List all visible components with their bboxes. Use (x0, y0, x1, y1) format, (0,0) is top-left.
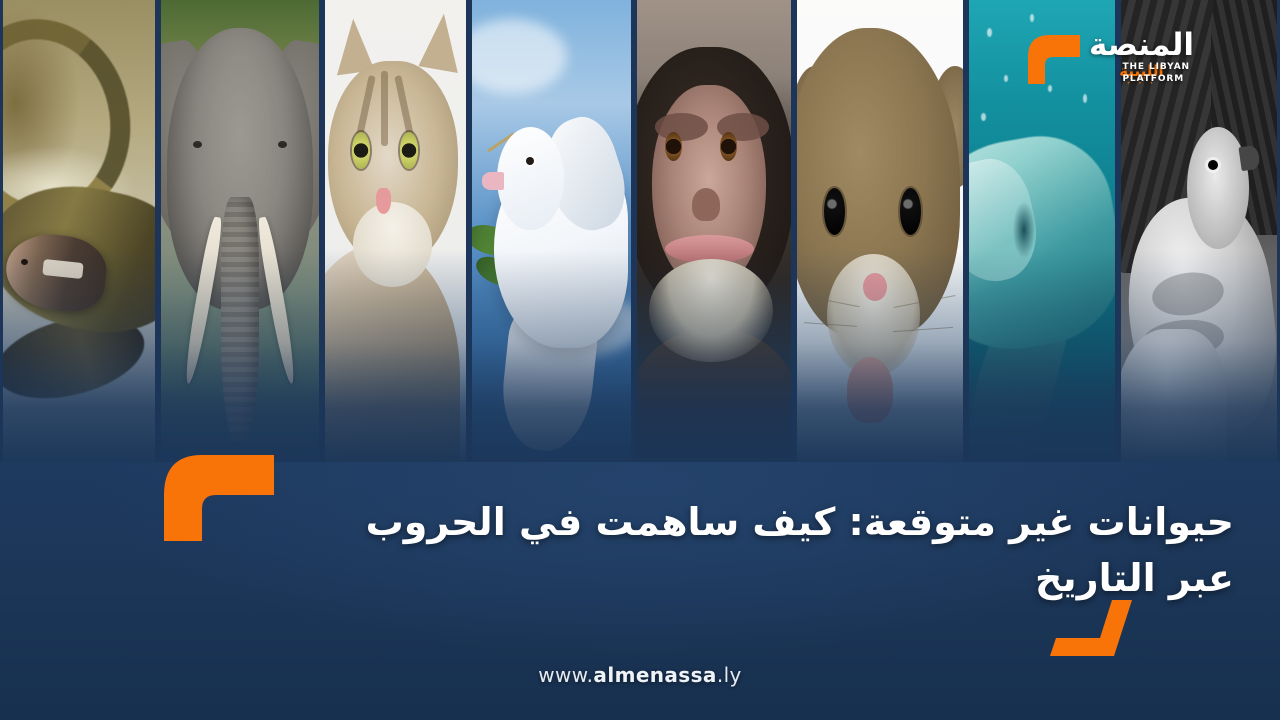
dove-beak (482, 172, 504, 191)
almenassa-corner-accent-icon (1044, 598, 1140, 660)
chimpanzee-nose (692, 188, 720, 221)
cat-muzzle (353, 202, 432, 287)
chimpanzee-beard (649, 259, 772, 362)
logo-bracket-icon (1025, 30, 1083, 86)
mouse-photo (797, 0, 963, 470)
chimpanzee-eye-left (665, 132, 682, 161)
url-prefix: www. (538, 663, 593, 687)
cat-stripe (381, 71, 388, 146)
elephant-photo (161, 0, 319, 470)
panel-dove (469, 0, 634, 470)
cat-ear-right (419, 11, 468, 73)
elephant-trunk (221, 197, 259, 441)
website-url[interactable]: www.almenassa.ly (0, 663, 1280, 687)
snake-photo (3, 0, 155, 470)
cat-eye-right (400, 132, 418, 170)
logo-english-line-2: PLATFORM (1122, 74, 1190, 86)
headline-line-1: حيوانات غير متوقعة: كيف ساهمت في الحروب (234, 494, 1234, 550)
cloud-shape (469, 19, 567, 94)
pigeon-handler-hand (1118, 329, 1227, 470)
chimpanzee-brow-left (655, 113, 707, 141)
cat-photo (325, 0, 466, 470)
url-name: almenassa (593, 663, 716, 687)
panel-snake (0, 0, 158, 470)
cat-nose (376, 188, 392, 214)
dolphin-eye-patch (1013, 202, 1035, 258)
panel-elephant (158, 0, 322, 470)
panel-mouse (794, 0, 966, 470)
mouse-nose (863, 273, 886, 301)
pigeon-head (1187, 127, 1249, 249)
almenassa-logo[interactable]: المنصة الليبية • • • THE LIBYAN PLATFORM (1025, 22, 1194, 94)
logo-english-tagline: THE LIBYAN PLATFORM (1122, 62, 1190, 85)
panel-cat (322, 0, 469, 470)
url-suffix: .ly (717, 663, 742, 687)
dove-photo (472, 0, 631, 470)
headline-block: حيوانات غير متوقعة: كيف ساهمت في الحروب … (234, 494, 1234, 606)
poster-canvas: حيوانات غير متوقعة: كيف ساهمت في الحروب … (0, 0, 1280, 720)
chimpanzee-photo (637, 0, 791, 470)
mouse-paw (847, 357, 893, 423)
mouse-eye-left (824, 188, 846, 235)
elephant-eye-left (193, 141, 202, 148)
cat-eye-left (352, 132, 370, 170)
chimpanzee-eye-right (720, 132, 737, 161)
snake-eye-shape (21, 259, 28, 265)
logo-english-line-1: THE LIBYAN (1122, 62, 1190, 74)
headline-line-2: عبر التاريخ (234, 550, 1234, 606)
logo-arabic-main: المنصة (1089, 30, 1194, 61)
panel-chimpanzee (634, 0, 794, 470)
dove-head (497, 127, 564, 230)
